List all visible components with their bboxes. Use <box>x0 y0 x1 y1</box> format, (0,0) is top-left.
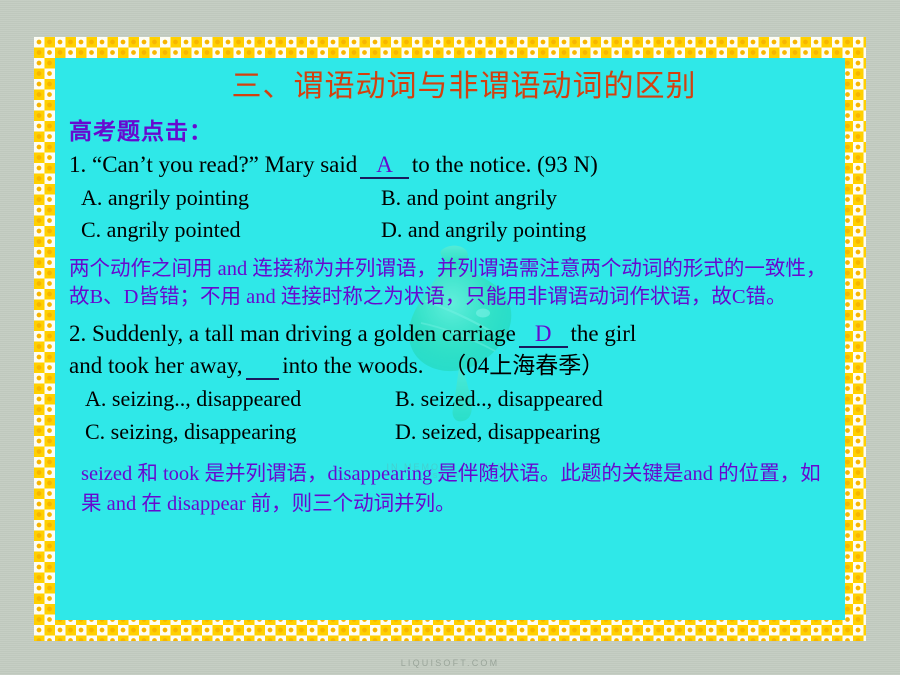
question2-option-a[interactable]: A. seizing.., disappeared <box>85 384 395 413</box>
question2-second-blank <box>246 353 280 380</box>
question2-stem-line1-after: the girl <box>571 321 637 346</box>
question2-stem-line2-after: into the woods. <box>282 353 423 378</box>
question1-option-c[interactable]: C. angrily pointed <box>81 215 381 244</box>
question2-stem-line1-before: 2. Suddenly, a tall man driving a golden… <box>69 321 516 346</box>
question2-option-d[interactable]: D. seized, disappearing <box>395 417 600 446</box>
question1-option-b[interactable]: B. and point angrily <box>381 183 557 212</box>
question2-stem-line-2: and took her away, into the woods. （04上海… <box>69 351 845 381</box>
question2-stem-line-1: 2. Suddenly, a tall man driving a golden… <box>69 319 845 349</box>
question1-stem: 1. “Can’t you read?” Mary saidAto the no… <box>69 150 845 180</box>
question2-options-row-2: C. seizing, disappearing D. seized, disa… <box>85 417 845 446</box>
question2-option-c[interactable]: C. seizing, disappearing <box>85 417 395 446</box>
question1-answer-blank: A <box>360 152 409 179</box>
question1-option-d[interactable]: D. and angrily pointing <box>381 215 586 244</box>
decorative-checker-frame: IN MEMORY OF THEE SPIRIT 三、谓语动词与非谓语动词的区别… <box>34 37 866 641</box>
slide-content: 三、谓语动词与非谓语动词的区别 高考题点击： 1. “Can’t you rea… <box>55 58 845 519</box>
question2-source: （04上海春季） <box>443 353 604 378</box>
question2-option-b[interactable]: B. seized.., disappeared <box>395 384 603 413</box>
question1-options-row-1: A. angrily pointing B. and point angrily <box>81 183 845 212</box>
site-watermark: LIQUISOFT.COM <box>0 658 900 668</box>
question2-answer-blank: D <box>519 321 568 348</box>
slide-body: IN MEMORY OF THEE SPIRIT 三、谓语动词与非谓语动词的区别… <box>55 58 845 620</box>
question1-stem-before: 1. “Can’t you read?” Mary said <box>69 152 357 177</box>
section-subheading: 高考题点击： <box>69 112 845 146</box>
slide-stage: IN MEMORY OF THEE SPIRIT 三、谓语动词与非谓语动词的区别… <box>0 0 900 675</box>
question1-options-row-2: C. angrily pointed D. and angrily pointi… <box>81 215 845 244</box>
question1-explanation: 两个动作之间用 and 连接称为并列谓语，并列谓语需注意两个动词的形式的一致性，… <box>69 255 839 312</box>
question2-stem-line2-before: and took her away, <box>69 353 243 378</box>
question1-stem-after: to the notice. (93 N) <box>412 152 598 177</box>
question2-explanation: seized 和 took 是并列谓语，disappearing 是伴随状语。此… <box>81 460 841 519</box>
page-title: 三、谓语动词与非谓语动词的区别 <box>55 58 845 108</box>
question2-options-row-1: A. seizing.., disappeared B. seized.., d… <box>85 384 845 413</box>
question1-option-a[interactable]: A. angrily pointing <box>81 183 381 212</box>
